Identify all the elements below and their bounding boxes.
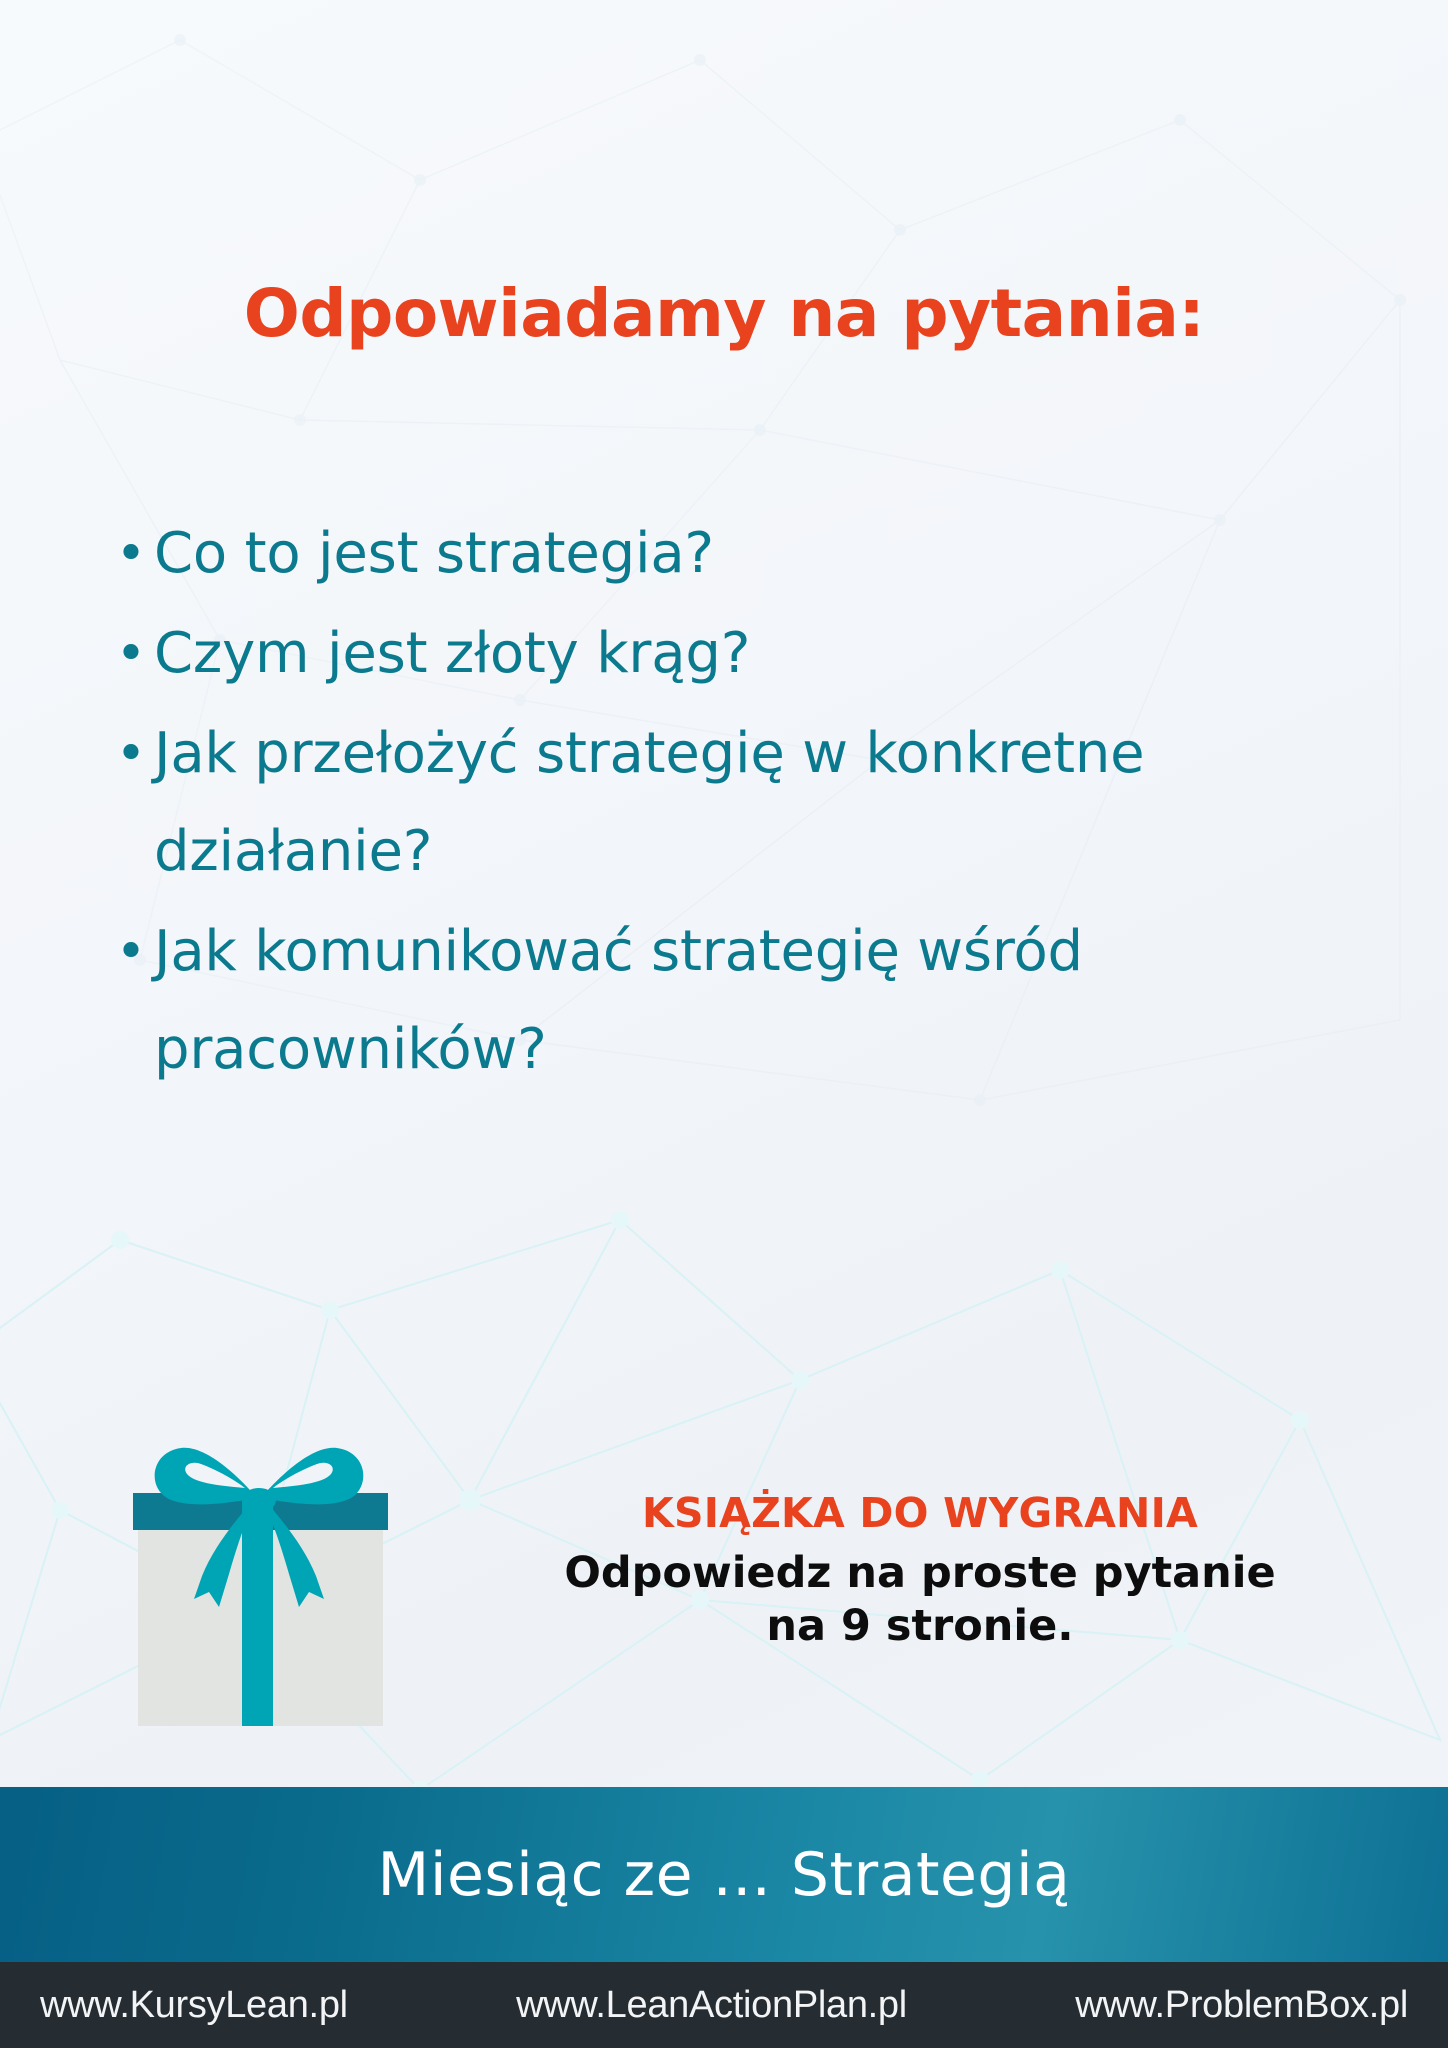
footer-link-kursylean[interactable]: www.KursyLean.pl — [40, 1984, 348, 2027]
question-text: Jak komunikować strategię wśród pracowni… — [154, 903, 1378, 1099]
prize-subtext-line-2: na 9 stronie. — [420, 1600, 1420, 1652]
slide-root: Odpowiadamy na pytania: • Co to jest str… — [0, 0, 1448, 2048]
list-item: • Czym jest złoty krąg? — [108, 605, 1378, 703]
series-banner-title: Miesiąc ze ... Strategią — [378, 1845, 1071, 1905]
page-title: Odpowiadamy na pytania: — [0, 281, 1448, 347]
prize-promo-block: KSIĄŻKA DO WYGRANIA Odpowiedz na proste … — [0, 1418, 1448, 1758]
footer-link-group: www.KursyLean.pl www.LeanActionPlan.pl w… — [0, 1984, 1448, 2027]
bullet-dot-icon: • — [108, 605, 154, 703]
list-item: • Co to jest strategia? — [108, 505, 1378, 603]
prize-text-group: KSIĄŻKA DO WYGRANIA Odpowiedz na proste … — [420, 1492, 1420, 1652]
footer-link-leanactionplan[interactable]: www.LeanActionPlan.pl — [516, 1984, 907, 2027]
list-item: • Jak komunikować strategię wśród pracow… — [108, 903, 1378, 1099]
question-text: Co to jest strategia? — [154, 505, 1378, 603]
gift-box-icon — [133, 1436, 388, 1726]
bullet-dot-icon: • — [108, 505, 154, 603]
question-text: Czym jest złoty krąg? — [154, 605, 1378, 703]
bullet-dot-icon: • — [108, 903, 154, 1001]
prize-subtext: Odpowiedz na proste pytanie na 9 stronie… — [420, 1547, 1420, 1652]
series-banner: Miesiąc ze ... Strategią — [0, 1787, 1448, 1962]
footer-bar: www.KursyLean.pl www.LeanActionPlan.pl w… — [0, 1962, 1448, 2048]
prize-subtext-line-1: Odpowiedz na proste pytanie — [420, 1547, 1420, 1599]
question-text: Jak przełożyć strategię w konkretne dzia… — [154, 705, 1378, 901]
question-list: • Co to jest strategia? • Czym jest złot… — [108, 505, 1378, 1101]
bullet-dot-icon: • — [108, 705, 154, 803]
footer-link-problembox[interactable]: www.ProblemBox.pl — [1075, 1984, 1408, 2027]
list-item: • Jak przełożyć strategię w konkretne dz… — [108, 705, 1378, 901]
prize-heading: KSIĄŻKA DO WYGRANIA — [420, 1492, 1420, 1535]
